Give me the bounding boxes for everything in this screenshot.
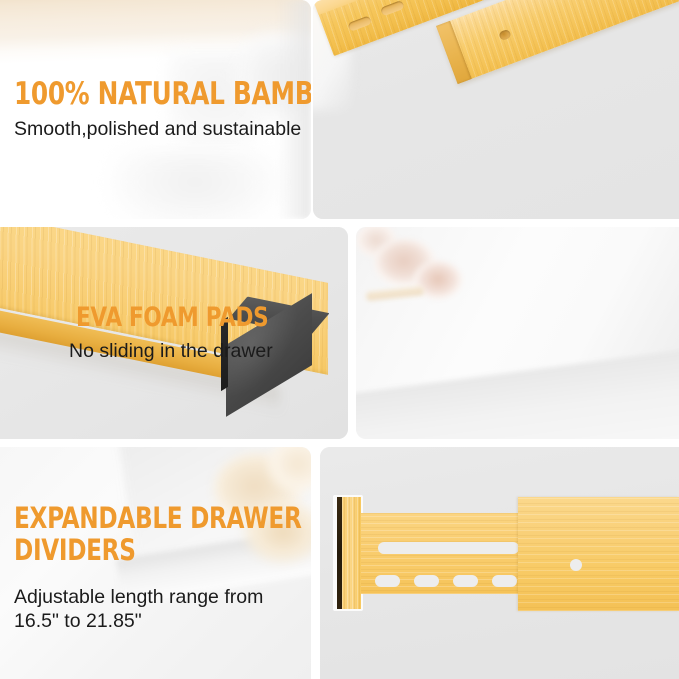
bamboo-slotted-rail xyxy=(361,513,526,594)
panel-seam-vertical xyxy=(311,0,313,219)
subline-adjustable-range-line1: Adjustable length range from xyxy=(14,586,263,610)
panel-bamboo-slat xyxy=(0,227,348,439)
oval-slot xyxy=(453,575,478,587)
panel-interlocking-rails xyxy=(313,0,679,219)
headline-expandable-dividers-line1: EXPANDABLE DRAWER xyxy=(14,504,301,534)
round-locking-hole xyxy=(570,559,582,571)
panel-seam-horizontal xyxy=(0,219,679,227)
oval-slot xyxy=(414,575,439,587)
oval-slot xyxy=(375,575,400,587)
panel-seam-vertical xyxy=(348,227,356,439)
oval-slot xyxy=(492,575,517,587)
oval-slot xyxy=(380,0,405,16)
oval-slot xyxy=(347,15,372,31)
headline-eva-foam-pads: EVA FOAM PADS xyxy=(76,304,268,332)
bamboo-solid-bar xyxy=(518,497,679,611)
feature-collage: 100% NATURAL BAMBOO Smooth,polished and … xyxy=(0,0,679,679)
oval-slot xyxy=(413,0,438,1)
blurred-drawer-shape xyxy=(110,150,280,219)
long-adjustment-slot xyxy=(378,542,519,554)
subline-adjustable-range-line2: 16.5" to 21.85" xyxy=(14,610,142,634)
panel-eva-foam-pads xyxy=(356,227,679,439)
headline-natural-bamboo: 100% NATURAL BAMBOO xyxy=(14,79,355,111)
headline-expandable-dividers-line2: DIVIDERS xyxy=(14,536,136,566)
panel-side-profile xyxy=(320,447,679,679)
panel-seam-horizontal xyxy=(0,439,679,447)
subline-eva-foam-pads: No sliding in the drawer xyxy=(69,340,273,364)
subline-natural-bamboo: Smooth,polished and sustainable xyxy=(14,118,301,142)
divider-end-cap-bamboo xyxy=(342,497,361,609)
round-locking-hole xyxy=(498,29,511,41)
panel-seam-vertical xyxy=(311,447,320,679)
